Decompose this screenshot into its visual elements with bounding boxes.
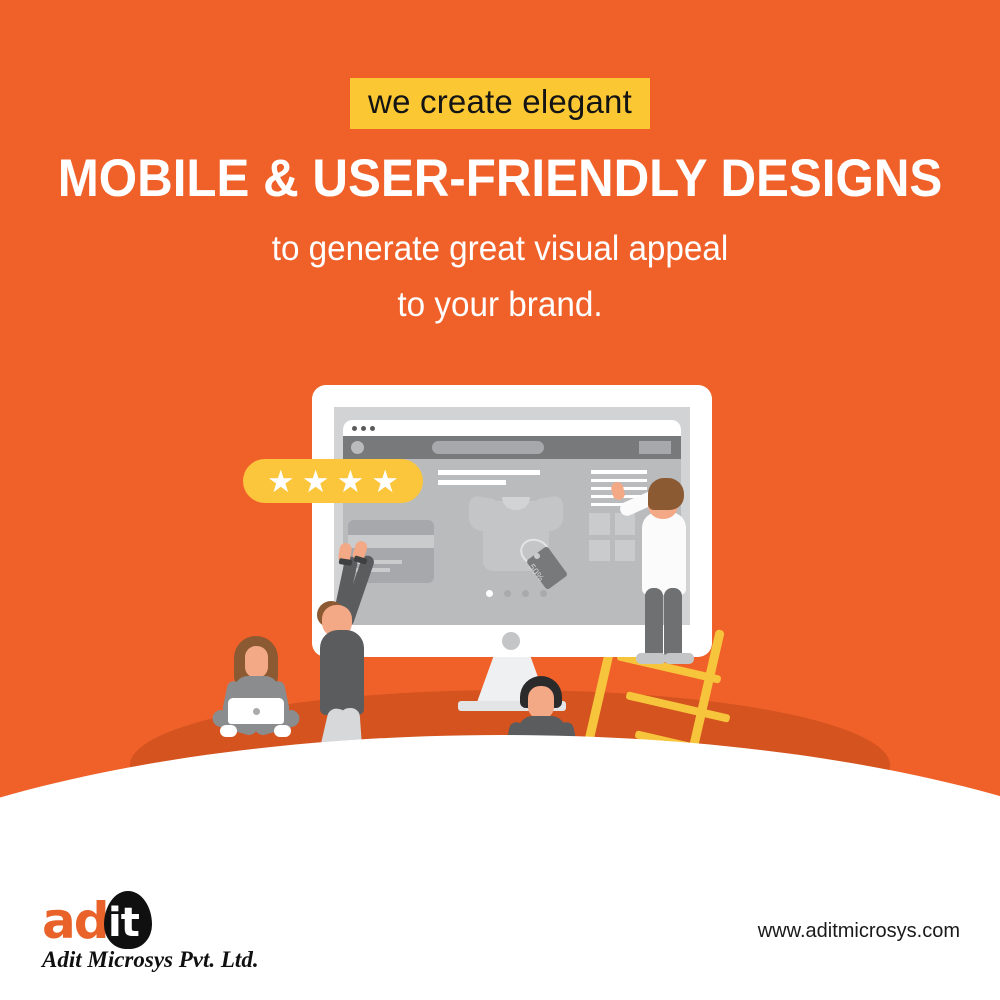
subtitle-line-2: to your brand.: [25, 278, 975, 332]
head: [245, 646, 268, 678]
logo-text-it: it: [108, 897, 139, 949]
browser-titlebar: [343, 420, 681, 436]
window-dot-icon: [370, 426, 375, 431]
subtitle-line-1: to generate great visual appeal: [25, 222, 975, 276]
logo-text-ad: ad: [42, 895, 108, 947]
laptop-logo-icon: [253, 708, 260, 715]
product-heading-lines: [438, 470, 540, 490]
sleeve-cuff: [339, 558, 353, 566]
star-icon: ★: [337, 466, 365, 497]
text-line: [438, 480, 506, 485]
shoe: [636, 653, 666, 664]
grid-tile: [589, 540, 610, 562]
orange-background-panel: we create elegant MOBILE & USER-FRIENDLY…: [0, 0, 1000, 880]
text-line: [438, 470, 540, 475]
company-logo[interactable]: ad it Adit Microsys Pvt. Ltd.: [42, 895, 302, 985]
footer-bar: ad it Adit Microsys Pvt. Ltd. www.aditmi…: [0, 880, 1000, 1000]
logo-mark: ad it: [42, 895, 302, 947]
leg: [645, 588, 663, 660]
discount-price-tag: 50%: [526, 540, 572, 588]
star-rating-badge: ★ ★ ★ ★: [243, 459, 423, 503]
ladder-rung: [625, 691, 730, 723]
star-icon: ★: [302, 466, 330, 497]
hand: [610, 481, 626, 501]
carousel-dot[interactable]: [504, 590, 511, 597]
search-input[interactable]: [432, 441, 544, 454]
torso: [642, 512, 686, 595]
shoe: [274, 725, 291, 737]
company-name: Adit Microsys Pvt. Ltd.: [42, 947, 259, 973]
star-icon: ★: [267, 466, 295, 497]
carousel-dot[interactable]: [486, 590, 493, 597]
torso: [320, 630, 364, 715]
eyebrow-highlight: we create elegant: [350, 78, 650, 129]
hair: [648, 478, 684, 510]
carousel-dot[interactable]: [522, 590, 529, 597]
site-logo-icon: [351, 441, 364, 454]
website-url[interactable]: www.aditmicrosys.com: [758, 920, 960, 943]
leg: [664, 588, 682, 660]
headline-block: we create elegant MOBILE & USER-FRIENDLY…: [0, 78, 1000, 332]
head: [528, 686, 554, 719]
monitor-power-button: [502, 632, 520, 650]
shoe: [220, 725, 237, 737]
person-woman-seated: [208, 636, 304, 736]
star-icon: ★: [371, 466, 399, 497]
window-dot-icon: [361, 426, 366, 431]
carousel-dots[interactable]: [486, 590, 547, 597]
grid-tile: [589, 513, 610, 535]
toolbar-action-button[interactable]: [639, 441, 671, 454]
shoe: [664, 653, 694, 664]
window-dot-icon: [352, 426, 357, 431]
eyebrow-wrapper: we create elegant: [0, 78, 1000, 129]
browser-toolbar: [343, 436, 681, 459]
page-title: MOBILE & USER-FRIENDLY DESIGNS: [35, 151, 965, 206]
carousel-dot[interactable]: [540, 590, 547, 597]
person-man-on-ladder: [612, 470, 698, 666]
poster-canvas: we create elegant MOBILE & USER-FRIENDLY…: [0, 0, 1000, 1000]
